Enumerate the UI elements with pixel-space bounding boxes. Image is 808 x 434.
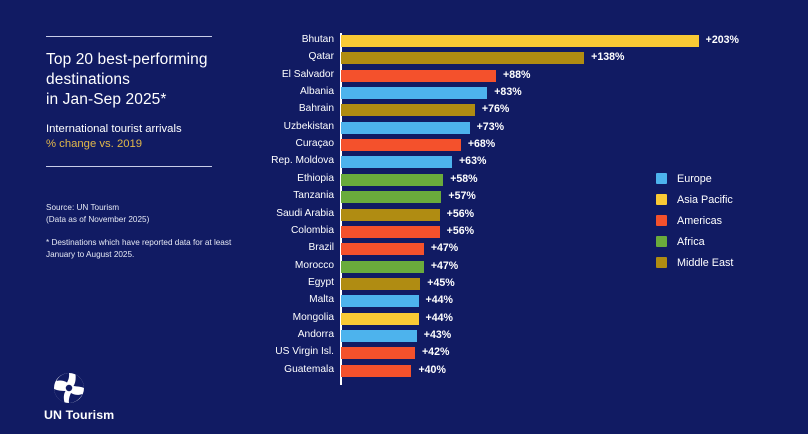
bar-value-label: +63% bbox=[459, 154, 486, 169]
chart-legend: EuropeAsia PacificAmericasAfricaMiddle E… bbox=[656, 168, 733, 273]
legend-label: Africa bbox=[677, 236, 705, 248]
bar-value-label: +42% bbox=[422, 345, 449, 360]
bar-segment[interactable] bbox=[341, 330, 417, 342]
bar-value-label: +68% bbox=[468, 137, 495, 152]
bar-value-label: +73% bbox=[477, 120, 504, 135]
bar-value-label: +76% bbox=[482, 102, 509, 117]
bar-segment[interactable] bbox=[341, 243, 424, 255]
bar-row[interactable]: Guatemala+40% bbox=[250, 365, 650, 377]
bar-value-label: +43% bbox=[424, 328, 451, 343]
legend-label: Americas bbox=[677, 215, 722, 227]
bar-value-label: +40% bbox=[418, 363, 445, 378]
bar-row[interactable]: Albania+83% bbox=[250, 87, 650, 99]
bar-segment[interactable] bbox=[341, 226, 440, 238]
bar-value-label: +47% bbox=[431, 259, 458, 274]
bar-category-label: Colombia bbox=[184, 224, 334, 238]
bar-value-label: +56% bbox=[447, 207, 474, 222]
bar-segment[interactable] bbox=[341, 365, 411, 377]
bar-value-label: +56% bbox=[447, 224, 474, 239]
bar-value-label: +203% bbox=[706, 33, 739, 48]
bar-row[interactable]: Ethiopia+58% bbox=[250, 174, 650, 186]
bar-value-label: +45% bbox=[427, 276, 454, 291]
bar-value-label: +88% bbox=[503, 68, 530, 83]
bar-segment[interactable] bbox=[341, 52, 584, 64]
un-tourism-globe-icon bbox=[53, 372, 85, 404]
bar-row[interactable]: US Virgin Isl.+42% bbox=[250, 347, 650, 359]
bar-category-label: Curaçao bbox=[184, 137, 334, 151]
bar-category-label: Bhutan bbox=[184, 33, 334, 47]
bar-category-label: Brazil bbox=[184, 241, 334, 255]
legend-item[interactable]: Middle East bbox=[656, 252, 733, 273]
legend-label: Middle East bbox=[677, 257, 733, 269]
legend-item[interactable]: Americas bbox=[656, 210, 733, 231]
bar-row[interactable]: Rep. Moldova+63% bbox=[250, 156, 650, 168]
bar-row[interactable]: El Salvador+88% bbox=[250, 70, 650, 82]
bar-value-label: +44% bbox=[426, 311, 453, 326]
bar-value-label: +58% bbox=[450, 172, 477, 187]
bar-row[interactable]: Egypt+45% bbox=[250, 278, 650, 290]
bar-category-label: Rep. Moldova bbox=[184, 154, 334, 168]
bar-category-label: Saudi Arabia bbox=[184, 207, 334, 221]
bar-segment[interactable] bbox=[341, 295, 419, 307]
bar-category-label: Egypt bbox=[184, 276, 334, 290]
bar-category-label: Malta bbox=[184, 293, 334, 307]
bar-category-label: Mongolia bbox=[184, 311, 334, 325]
brand-logo: UN Tourism bbox=[44, 372, 164, 422]
bar-row[interactable]: Uzbekistan+73% bbox=[250, 122, 650, 134]
bar-row[interactable]: Bahrain+76% bbox=[250, 104, 650, 116]
bar-segment[interactable] bbox=[341, 174, 443, 186]
bar-category-label: Albania bbox=[184, 85, 334, 99]
brand-name: UN Tourism bbox=[44, 408, 164, 422]
legend-label: Asia Pacific bbox=[677, 194, 733, 206]
bar-row[interactable]: Andorra+43% bbox=[250, 330, 650, 342]
bar-value-label: +83% bbox=[494, 85, 521, 100]
legend-item[interactable]: Asia Pacific bbox=[656, 189, 733, 210]
legend-item[interactable]: Africa bbox=[656, 231, 733, 252]
bar-segment[interactable] bbox=[341, 278, 420, 290]
bar-segment[interactable] bbox=[341, 313, 419, 325]
bar-row[interactable]: Tanzania+57% bbox=[250, 191, 650, 203]
bar-row[interactable]: Mongolia+44% bbox=[250, 313, 650, 325]
bar-category-label: Tanzania bbox=[184, 189, 334, 203]
bar-category-label: Andorra bbox=[184, 328, 334, 342]
bar-value-label: +47% bbox=[431, 241, 458, 256]
bar-segment[interactable] bbox=[341, 209, 440, 221]
bar-row[interactable]: Colombia+56% bbox=[250, 226, 650, 238]
bar-category-label: Qatar bbox=[184, 50, 334, 64]
bar-category-label: Morocco bbox=[184, 259, 334, 273]
legend-swatch-icon bbox=[656, 236, 667, 247]
bar-segment[interactable] bbox=[341, 104, 475, 116]
bar-segment[interactable] bbox=[341, 261, 424, 273]
legend-swatch-icon bbox=[656, 194, 667, 205]
bar-category-label: Ethiopia bbox=[184, 172, 334, 186]
bar-segment[interactable] bbox=[341, 122, 470, 134]
bar-row[interactable]: Saudi Arabia+56% bbox=[250, 209, 650, 221]
legend-item[interactable]: Europe bbox=[656, 168, 733, 189]
bar-category-label: Uzbekistan bbox=[184, 120, 334, 134]
bar-value-label: +138% bbox=[591, 50, 624, 65]
legend-swatch-icon bbox=[656, 257, 667, 268]
bar-category-label: El Salvador bbox=[184, 68, 334, 82]
bar-chart: Bhutan+203%Qatar+138%El Salvador+88%Alba… bbox=[250, 30, 650, 390]
bar-category-label: Bahrain bbox=[184, 102, 334, 116]
bar-segment[interactable] bbox=[341, 87, 487, 99]
bar-row[interactable]: Qatar+138% bbox=[250, 52, 650, 64]
bar-segment[interactable] bbox=[341, 191, 441, 203]
legend-swatch-icon bbox=[656, 215, 667, 226]
bar-category-label: Guatemala bbox=[184, 363, 334, 377]
bar-segment[interactable] bbox=[341, 156, 452, 168]
bar-row[interactable]: Brazil+47% bbox=[250, 243, 650, 255]
legend-swatch-icon bbox=[656, 173, 667, 184]
bar-row[interactable]: Curaçao+68% bbox=[250, 139, 650, 151]
bar-segment[interactable] bbox=[341, 70, 496, 82]
bar-value-label: +57% bbox=[448, 189, 475, 204]
bar-segment[interactable] bbox=[341, 347, 415, 359]
bar-row[interactable]: Morocco+47% bbox=[250, 261, 650, 273]
bar-segment[interactable] bbox=[341, 139, 461, 151]
bar-category-label: US Virgin Isl. bbox=[184, 345, 334, 359]
bar-row[interactable]: Bhutan+203% bbox=[250, 35, 650, 47]
legend-label: Europe bbox=[677, 173, 712, 185]
bar-value-label: +44% bbox=[426, 293, 453, 308]
bar-segment[interactable] bbox=[341, 35, 699, 47]
bar-row[interactable]: Malta+44% bbox=[250, 295, 650, 307]
